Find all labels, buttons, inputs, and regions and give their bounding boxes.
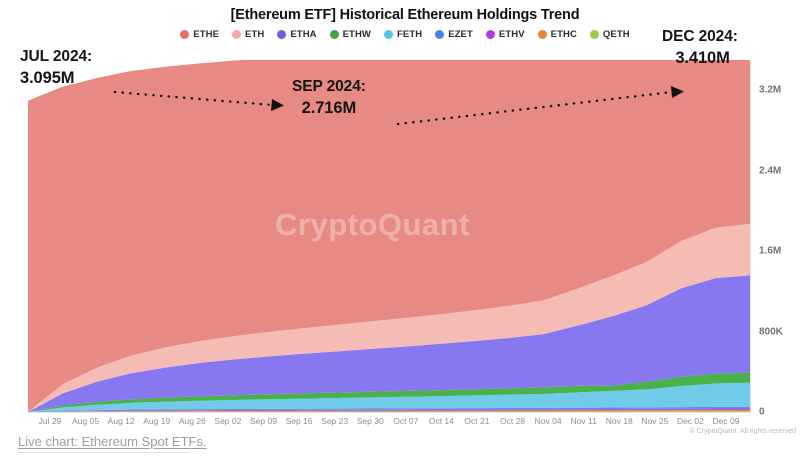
legend-item-label: QETH [603,29,630,40]
y-axis-tick-label: 3.2M [759,85,781,96]
legend-swatch-icon [330,30,339,39]
x-axis-tick-label: Aug 26 [179,416,206,426]
x-axis-tick-label: Aug 05 [72,416,99,426]
chart-page: [Ethereum ETF] Historical Ethereum Holdi… [0,0,810,457]
y-axis-line [750,60,751,415]
legend-swatch-icon [232,30,241,39]
annotation-dec-2024: DEC 2024: 3.410M [662,28,738,68]
x-axis-tick-label: Nov 18 [606,416,633,426]
legend-item-label: ETHV [499,29,525,40]
x-axis-tick-label: Oct 14 [429,416,454,426]
x-axis-tick-label: Jul 29 [39,416,62,426]
legend-item-feth[interactable]: FETH [384,29,422,40]
legend-swatch-icon [590,30,599,39]
x-axis-line [28,412,751,413]
x-axis-tick-label: Dec 02 [677,416,704,426]
annotation-jul-2024: JUL 2024: 3.095M [20,48,92,88]
plot-area [28,60,750,412]
legend-item-label: ETH [245,29,264,40]
legend-swatch-icon [277,30,286,39]
x-axis-tick-label: Oct 28 [500,416,525,426]
x-axis-tick-label: Sep 16 [286,416,313,426]
x-axis-tick-label: Nov 04 [535,416,562,426]
legend-swatch-icon [435,30,444,39]
legend-item-label: ETHW [343,29,371,40]
x-axis-tick-label: Sep 30 [357,416,384,426]
legend-item-label: FETH [397,29,422,40]
y-axis-tick-label: 800K [759,326,783,337]
annotation-dec-value: 3.410M [662,49,738,68]
live-chart-link[interactable]: Live chart: Ethereum Spot ETFs. [18,434,207,449]
legend-item-qeth[interactable]: QETH [590,29,630,40]
legend-swatch-icon [486,30,495,39]
page-title: [Ethereum ETF] Historical Ethereum Holdi… [0,7,810,23]
annotation-jul-label: JUL 2024: [20,48,92,66]
annotation-dec-label: DEC 2024: [662,28,738,46]
x-axis-tick-label: Aug 12 [108,416,135,426]
x-axis-tick-label: Aug 19 [143,416,170,426]
x-axis: Jul 29Aug 05Aug 12Aug 19Aug 26Sep 02Sep … [28,414,750,430]
x-axis-tick-label: Sep 02 [214,416,241,426]
y-axis-tick-label: 0 [759,407,765,418]
legend-item-ethv[interactable]: ETHV [486,29,525,40]
annotation-sep-value: 2.716M [292,99,366,118]
legend-item-label: EZET [448,29,473,40]
x-axis-tick-label: Oct 07 [393,416,418,426]
x-axis-tick-label: Nov 25 [641,416,668,426]
y-axis-tick-label: 1.6M [759,246,781,257]
legend-swatch-icon [384,30,393,39]
annotation-jul-value: 3.095M [20,69,92,88]
copyright-notice: © CryptoQuant. All rights reserved [690,428,796,435]
y-axis: 0800K1.6M2.4M3.2M [752,60,810,412]
annotation-sep-2024: SEP 2024: 2.716M [292,78,366,118]
x-axis-tick-label: Oct 21 [464,416,489,426]
legend-item-label: ETHE [193,29,219,40]
legend-item-label: ETHA [290,29,316,40]
legend-item-ethe[interactable]: ETHE [180,29,219,40]
legend-item-ethw[interactable]: ETHW [330,29,371,40]
y-axis-tick-label: 2.4M [759,165,781,176]
x-axis-tick-label: Sep 23 [321,416,348,426]
footer-divider [18,452,188,453]
x-axis-tick-label: Nov 11 [571,416,597,426]
legend-item-ezet[interactable]: EZET [435,29,473,40]
legend-swatch-icon [180,30,189,39]
legend-item-label: ETHC [551,29,577,40]
x-axis-tick-label: Sep 09 [250,416,277,426]
legend-item-etha[interactable]: ETHA [277,29,316,40]
stacked-area-chart [28,60,750,412]
legend-item-eth[interactable]: ETH [232,29,264,40]
legend-item-ethc[interactable]: ETHC [538,29,577,40]
x-axis-tick-label: Dec 09 [713,416,740,426]
annotation-sep-label: SEP 2024: [292,78,366,96]
legend-swatch-icon [538,30,547,39]
